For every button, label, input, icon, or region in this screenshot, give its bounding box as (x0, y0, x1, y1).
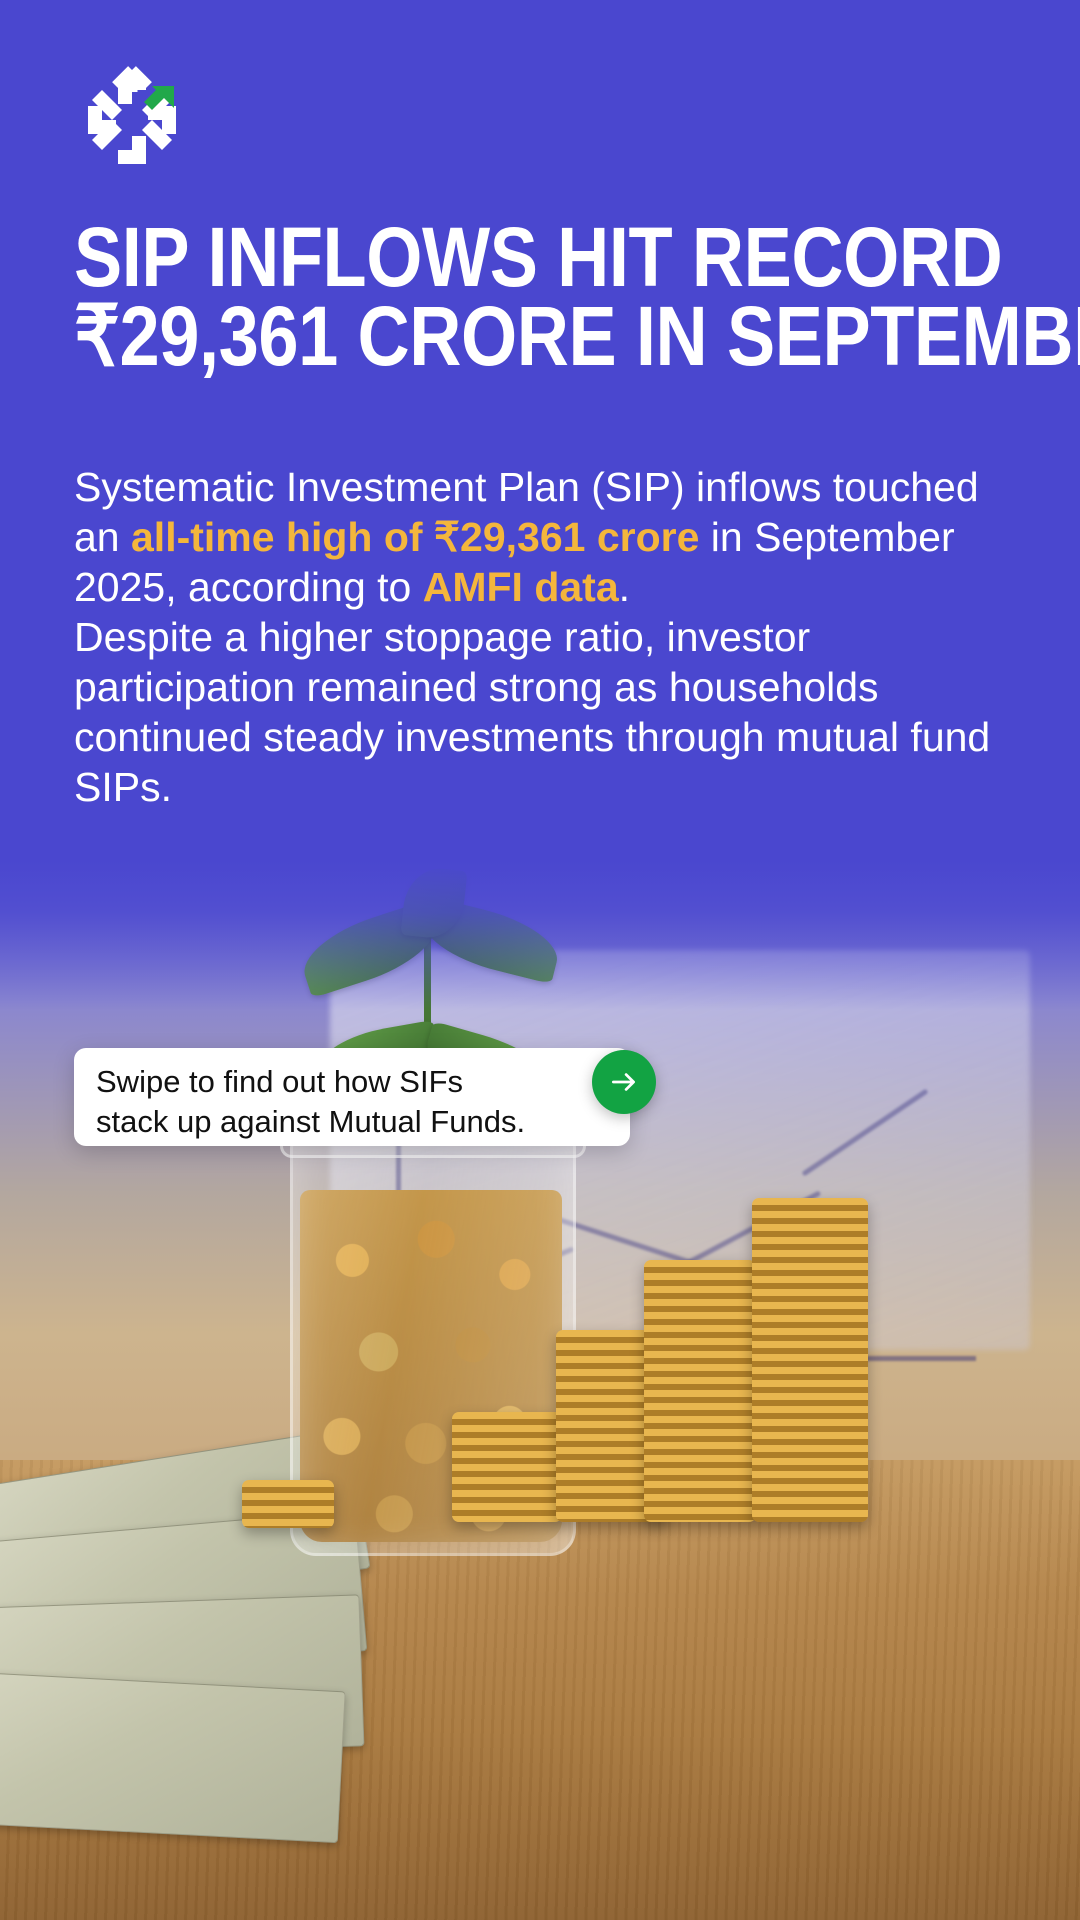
story-card: SIP INFLOWS HIT RECORD ₹29,361 CRORE IN … (0, 0, 1080, 1920)
cta-line-1: Swipe to find out how SIFs (96, 1062, 616, 1102)
body-text-3: . (619, 564, 630, 610)
body-copy: Systematic Investment Plan (SIP) inflows… (74, 462, 1014, 812)
swipe-cta-card[interactable]: Swipe to find out how SIFs stack up agai… (74, 1048, 630, 1146)
page-title: SIP INFLOWS HIT RECORD ₹29,361 CRORE IN … (74, 218, 891, 376)
brand-logo (72, 60, 192, 180)
content-layer: SIP INFLOWS HIT RECORD ₹29,361 CRORE IN … (0, 0, 1080, 1920)
arrow-right-icon[interactable] (592, 1050, 656, 1114)
body-highlight-2: AMFI data (423, 564, 619, 610)
cta-line-2: stack up against Mutual Funds. (96, 1102, 616, 1142)
headline-line-1: SIP INFLOWS HIT RECORD (74, 218, 891, 297)
headline-line-2: ₹29,361 CRORE IN SEPTEMBER (74, 297, 891, 376)
body-highlight-1: all-time high of ₹29,361 crore (131, 514, 699, 560)
cta-text: Swipe to find out how SIFs stack up agai… (96, 1062, 616, 1141)
body-paragraph-2: Despite a higher stoppage ratio, investo… (74, 612, 1014, 812)
